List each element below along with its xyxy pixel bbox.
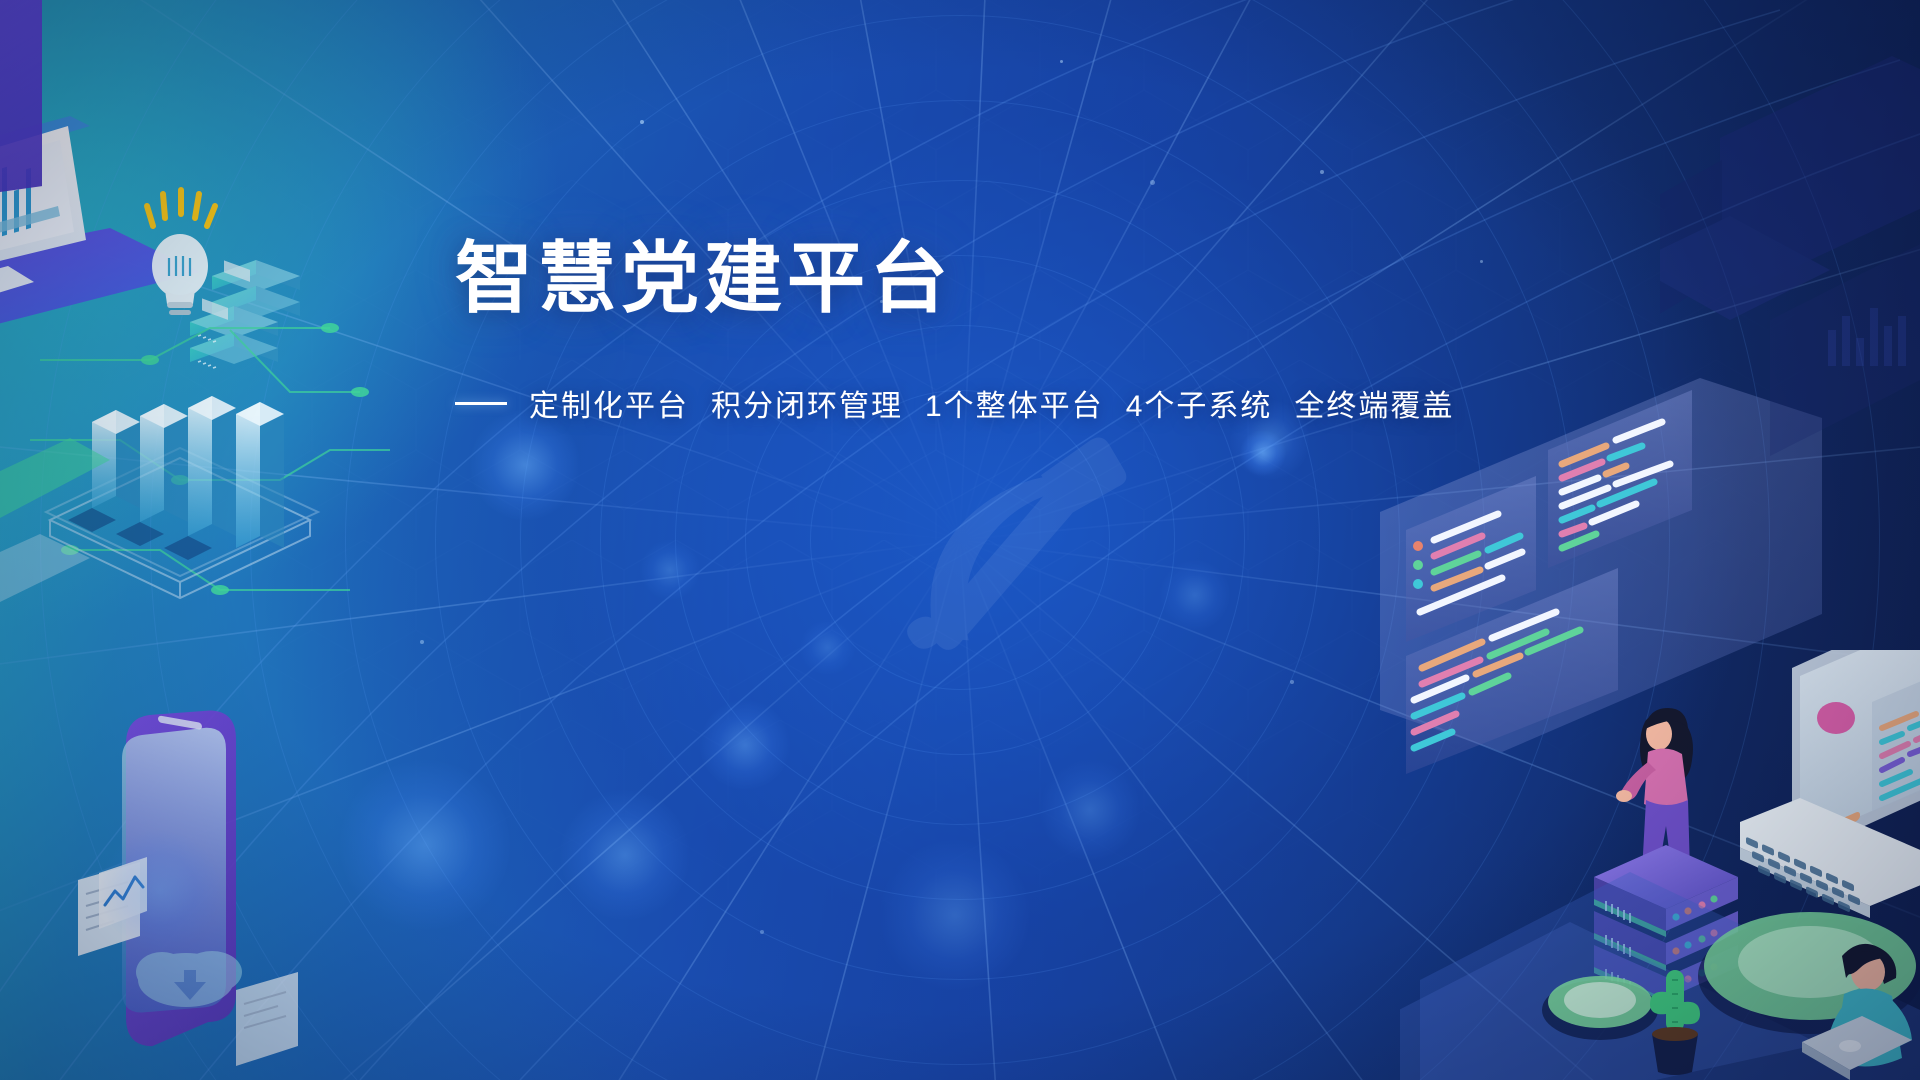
analytics-wave-card <box>95 855 165 935</box>
isometric-desktop-monitor-bar-chart <box>0 40 360 460</box>
cpc-party-emblem-icon <box>870 420 1160 710</box>
spark-dot <box>1320 170 1324 174</box>
subtitle-row: 定制化平台积分闭环管理1个整体平台4个子系统全终端覆盖 <box>455 381 1555 425</box>
bokeh-glow <box>1160 560 1230 630</box>
isometric-smartphone-cloud <box>60 690 360 1080</box>
bokeh-glow <box>1040 760 1140 860</box>
hexagon-mesh <box>0 0 1920 1080</box>
subtitle-dash <box>455 402 507 405</box>
spark-dot <box>420 640 424 644</box>
banner-stage: 智慧党建平台 定制化平台积分闭环管理1个整体平台4个子系统全终端覆盖 <box>0 0 1920 1080</box>
bokeh-glow <box>880 840 1030 990</box>
page-title: 智慧党建平台 <box>455 238 1555 319</box>
bokeh-glow <box>470 410 580 520</box>
hero-text-block: 智慧党建平台 定制化平台积分闭环管理1个整体平台4个子系统全终端覆盖 <box>455 238 1555 425</box>
subtitle-text: 定制化平台积分闭环管理1个整体平台4个子系统全终端覆盖 <box>529 381 1454 425</box>
spark-dot <box>1060 60 1063 63</box>
person-with-laptop <box>1790 930 1920 1080</box>
bokeh-glow <box>1240 430 1286 476</box>
circuit-traces-left <box>30 300 390 630</box>
stacked-server-units <box>190 250 330 380</box>
isometric-bar-chart-platform <box>30 370 330 630</box>
violet-corner-block <box>0 0 42 194</box>
subtitle-part: 全终端覆盖 <box>1294 390 1454 423</box>
isometric-laptop <box>1740 650 1920 930</box>
subtitle-part: 定制化平台 <box>529 390 689 423</box>
teal-corner-slab <box>0 430 160 630</box>
bokeh-glow <box>800 620 855 675</box>
bokeh-glow <box>100 830 220 950</box>
bokeh-glow <box>340 760 510 930</box>
cactus-pot <box>1630 950 1720 1080</box>
bokeh-glow <box>560 790 690 920</box>
spark-dot <box>760 930 764 934</box>
subtitle-part: 1个整体平台 <box>925 390 1104 423</box>
spark-dot <box>1150 180 1155 185</box>
spark-dot <box>1290 680 1294 684</box>
radial-rays <box>0 0 1920 1080</box>
dark-laptop-silhouettes <box>1660 20 1920 460</box>
isometric-floor-slabs <box>1400 830 1920 1080</box>
person-presenting <box>1612 700 1722 900</box>
subtitle-part: 积分闭环管理 <box>711 390 903 423</box>
spark-dot <box>640 120 644 124</box>
bokeh-glow <box>640 540 700 600</box>
subtitle-part: 4个子系统 <box>1126 390 1273 423</box>
idea-lightbulb-icon <box>125 180 235 320</box>
bokeh-glow <box>700 700 790 790</box>
vignette-overlay <box>0 0 1920 1080</box>
server-rack-stack <box>1580 845 1760 1025</box>
